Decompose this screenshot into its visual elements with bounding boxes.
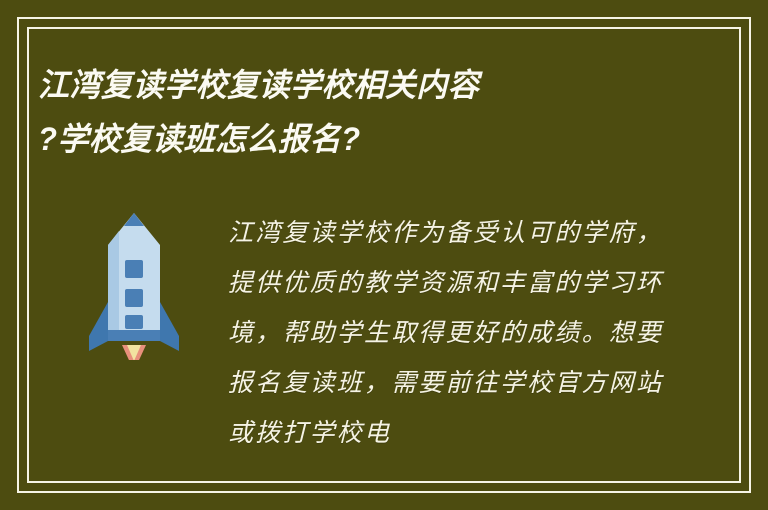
- page-title-line-1: 江湾复读学校复读学校相关内容: [38, 58, 620, 112]
- rocket-body-shade-icon: [108, 231, 119, 338]
- rocket-right-fin-icon: [160, 302, 179, 351]
- rocket-window-icon: [125, 260, 143, 278]
- page-title: 江湾复读学校复读学校相关内容 ?学校复读班怎么报名?: [38, 58, 638, 166]
- rocket-left-fin-icon: [89, 302, 108, 351]
- rocket-window-icon: [125, 289, 143, 307]
- rocket-icon: [86, 205, 182, 360]
- rocket-base-collar-icon: [108, 330, 160, 341]
- page-title-line-2: ?学校复读班怎么报名?: [38, 112, 620, 166]
- article-body-text: 江湾复读学校作为备受认可的学府，提供优质的教学资源和丰富的学习环境，帮助学生取得…: [228, 208, 664, 458]
- rocket-window-icon: [125, 315, 143, 329]
- article-card: 江湾复读学校复读学校相关内容 ?学校复读班怎么报名? 江湾复读: [0, 0, 768, 510]
- rocket-nose-tip-icon: [124, 213, 144, 226]
